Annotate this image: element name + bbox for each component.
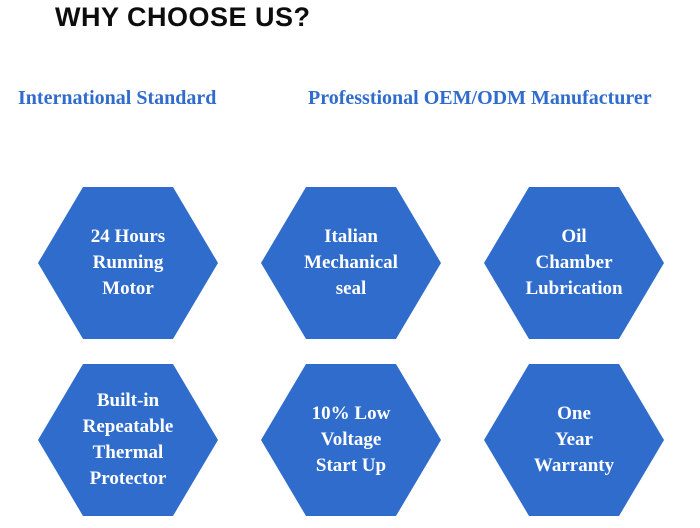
- feature-label: Italian Mechanical seal: [290, 224, 412, 303]
- feature-label: Built-in Repeatable Thermal Protector: [69, 388, 188, 493]
- feature-hexagon-built-in-repeatable-thermal-protector: Built-in Repeatable Thermal Protector: [38, 364, 218, 516]
- feature-hexagon-one-year-warranty: One Year Warranty: [484, 364, 664, 516]
- subtitle-international-standard: International Standard: [18, 87, 216, 110]
- subtitle-oem-odm-manufacturer: Professtional OEM/ODM Manufacturer: [308, 87, 652, 110]
- feature-hexagon-24-hours-running-motor: 24 Hours Running Motor: [38, 187, 218, 339]
- feature-label: 24 Hours Running Motor: [77, 224, 179, 303]
- feature-hexagon-10-percent-low-voltage-start-up: 10% Low Voltage Start Up: [261, 364, 441, 516]
- feature-label: 10% Low Voltage Start Up: [298, 401, 405, 480]
- feature-label: One Year Warranty: [520, 401, 628, 480]
- feature-hexagon-italian-mechanical-seal: Italian Mechanical seal: [261, 187, 441, 339]
- page-title: WHY CHOOSE US?: [55, 2, 311, 33]
- poster-page: WHY CHOOSE US? International Standard Pr…: [0, 0, 700, 528]
- feature-hexagon-oil-chamber-lubrication: Oil Chamber Lubrication: [484, 187, 664, 339]
- feature-label: Oil Chamber Lubrication: [511, 224, 636, 303]
